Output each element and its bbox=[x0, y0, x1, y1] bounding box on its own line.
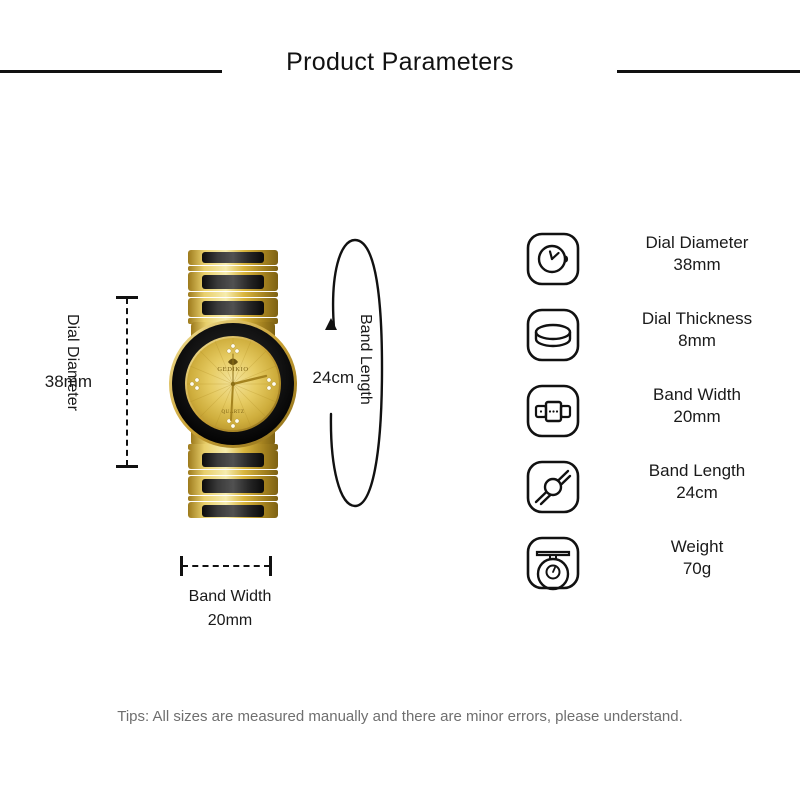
spec-row-weight: Weight 70g bbox=[524, 532, 794, 608]
dial-diameter-measurement: 38mm Dial Diameter bbox=[20, 296, 150, 468]
page-header: Product Parameters bbox=[0, 48, 800, 96]
specification-list: Dial Diameter 38mm Dial Thickness 8mm bbox=[524, 228, 794, 608]
spec-value: 8mm bbox=[600, 330, 794, 352]
spec-label: Dial Thickness bbox=[600, 308, 794, 330]
band-length-measurement: Band Length 24cm bbox=[300, 218, 410, 518]
spec-text-band-width: Band Width 20mm bbox=[600, 380, 794, 428]
spec-label: Dial Diameter bbox=[600, 232, 794, 254]
band-length-icon bbox=[524, 458, 582, 516]
weight-icon bbox=[524, 534, 582, 592]
spec-row-band-length: Band Length 24cm bbox=[524, 456, 794, 532]
dial-diameter-icon bbox=[524, 230, 582, 288]
spec-value: 24cm bbox=[600, 482, 794, 504]
band-width-icon bbox=[524, 382, 582, 440]
spec-label: Band Length bbox=[600, 460, 794, 482]
band-length-measure-label: Band Length bbox=[355, 314, 375, 474]
spec-label: Band Width bbox=[600, 384, 794, 406]
dimension-cap-right bbox=[269, 556, 272, 576]
band-width-measure-value: 20mm bbox=[150, 612, 310, 630]
title-divider-left bbox=[0, 70, 222, 73]
dimension-dashed-line bbox=[182, 565, 270, 567]
dimension-dashed-line bbox=[126, 298, 128, 466]
spec-value: 70g bbox=[600, 558, 794, 580]
page-title: Product Parameters bbox=[240, 48, 560, 77]
dial-diameter-measure-label: Dial Diameter bbox=[62, 314, 82, 454]
spec-text-dial-diameter: Dial Diameter 38mm bbox=[600, 228, 794, 276]
spec-value: 38mm bbox=[600, 254, 794, 276]
watch-product-image: GEDIKIO QUARTZ bbox=[158, 250, 308, 518]
spec-row-dial-diameter: Dial Diameter 38mm bbox=[524, 228, 794, 304]
dial-movement-text: QUARTZ bbox=[222, 410, 245, 415]
dial-thickness-icon bbox=[524, 306, 582, 364]
band-length-measure-value: 24cm bbox=[294, 368, 354, 388]
spec-value: 20mm bbox=[600, 406, 794, 428]
spec-text-dial-thickness: Dial Thickness 8mm bbox=[600, 304, 794, 352]
watch-case: GEDIKIO QUARTZ bbox=[169, 320, 297, 448]
band-width-dimension-line bbox=[180, 556, 272, 576]
spec-label: Weight bbox=[600, 536, 794, 558]
dimension-cap-bottom bbox=[116, 465, 138, 468]
title-divider-right bbox=[617, 70, 800, 73]
band-width-measure-label: Band Width bbox=[150, 588, 310, 606]
spec-row-dial-thickness: Dial Thickness 8mm bbox=[524, 304, 794, 380]
dial-diameter-dimension-line bbox=[116, 296, 138, 468]
spec-text-weight: Weight 70g bbox=[600, 532, 794, 580]
band-width-measurement: Band Width 20mm bbox=[150, 556, 310, 636]
footer-tips-text: Tips: All sizes are measured manually an… bbox=[0, 708, 800, 725]
spec-row-band-width: Band Width 20mm bbox=[524, 380, 794, 456]
spec-text-band-length: Band Length 24cm bbox=[600, 456, 794, 504]
